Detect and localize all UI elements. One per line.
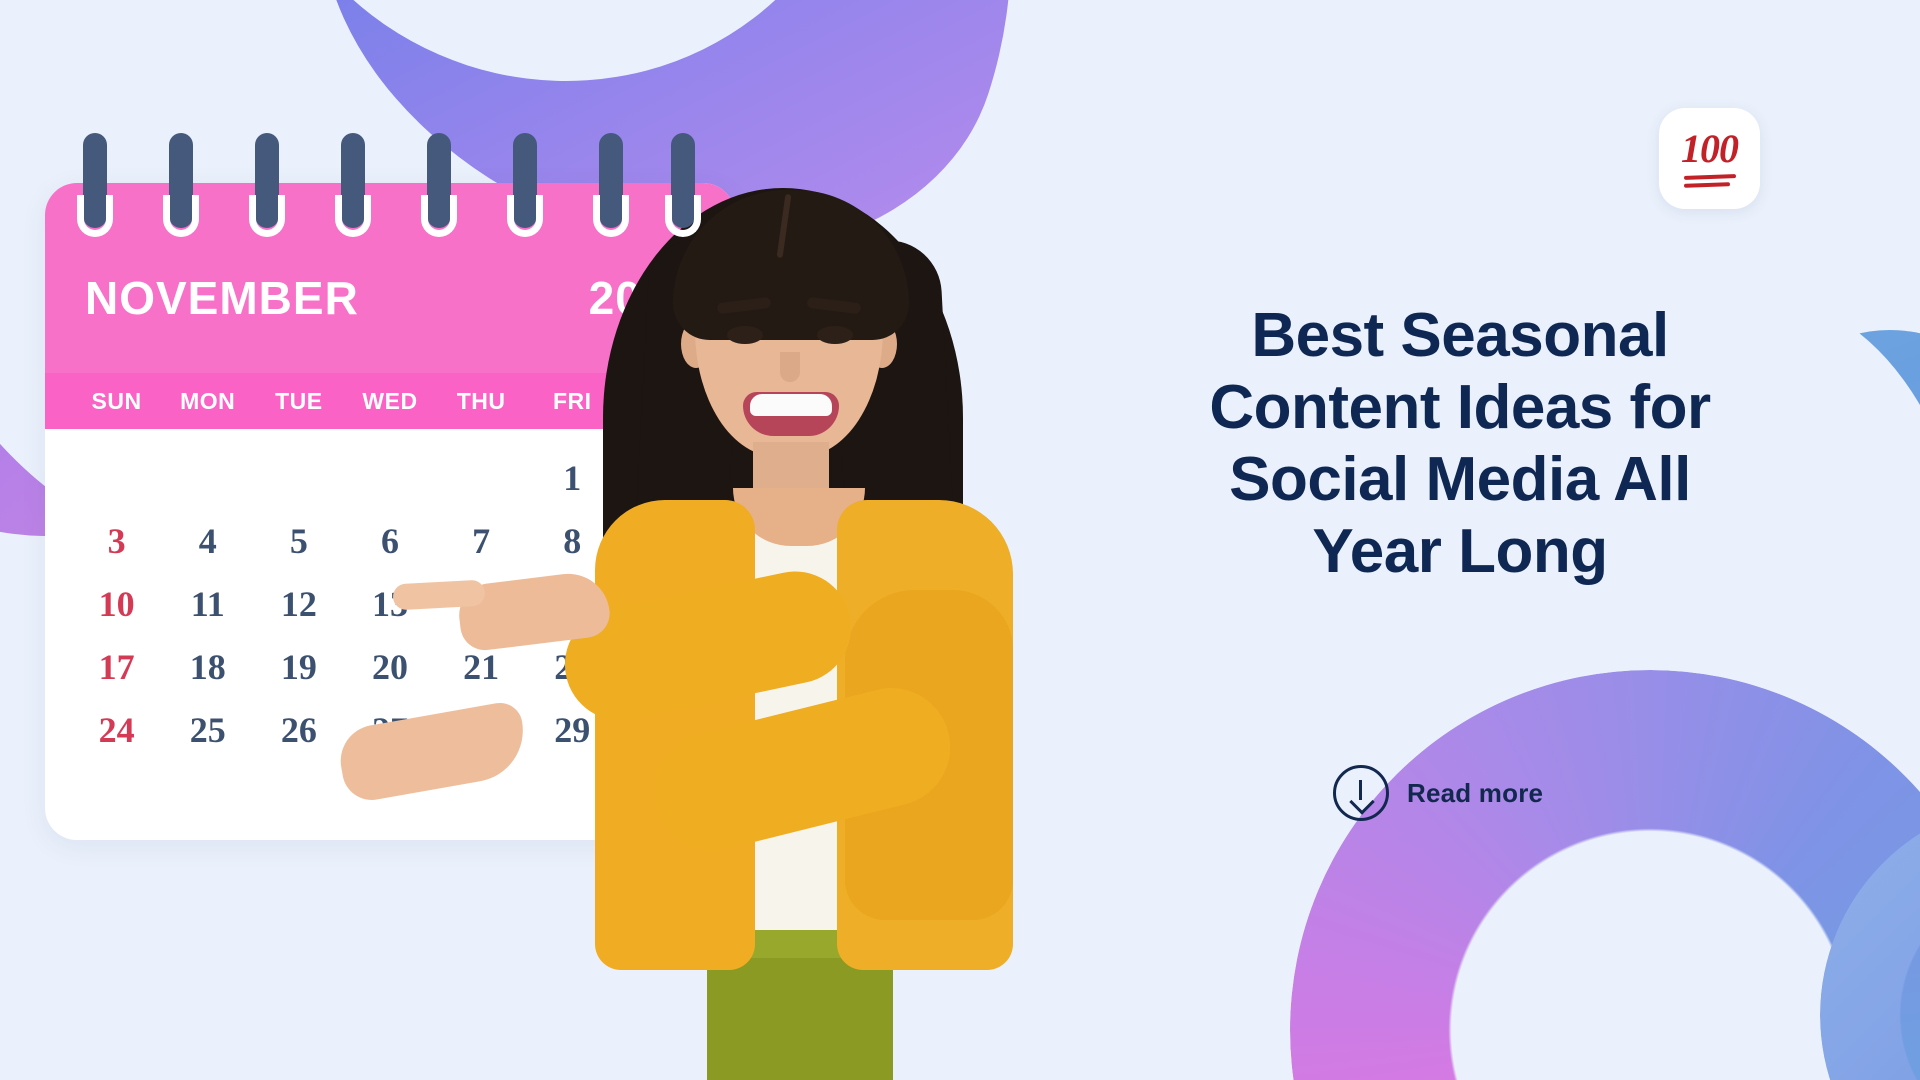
calendar-day[interactable]: 17 [71, 646, 162, 688]
calendar-day[interactable]: 7 [436, 520, 527, 562]
read-more-label: Read more [1407, 778, 1543, 809]
calendar-day[interactable]: 5 [253, 520, 344, 562]
headline-line-4: Year Long [1100, 516, 1820, 588]
binding-hole-icon [335, 195, 371, 237]
headline-line-1: Best Seasonal [1100, 300, 1820, 372]
headline-line-3: Social Media All [1100, 444, 1820, 516]
calendar-day[interactable]: 6 [344, 520, 435, 562]
calendar-spiral-binding [45, 133, 735, 253]
calendar-day[interactable] [436, 457, 527, 499]
binding-hole-icon [507, 195, 543, 237]
calendar-day[interactable]: 24 [71, 709, 162, 751]
blob-bottom-right-ring [1290, 670, 1920, 1080]
index-finger [392, 580, 485, 611]
calendar-day[interactable] [344, 457, 435, 499]
calendar-day[interactable] [162, 457, 253, 499]
page-title: Best Seasonal Content Ideas for Social M… [1100, 300, 1820, 588]
calendar-day[interactable]: 20 [344, 646, 435, 688]
calendar-day[interactable]: 18 [162, 646, 253, 688]
binding-hole-icon [249, 195, 285, 237]
teeth [750, 394, 832, 416]
eye-left [727, 326, 763, 344]
calendar-day[interactable] [71, 457, 162, 499]
read-more-button[interactable]: Read more [1333, 765, 1543, 821]
calendar-day[interactable]: 25 [162, 709, 253, 751]
hundred-points-badge: 100 [1659, 108, 1760, 209]
weekday-sun: SUN [71, 388, 162, 415]
binding-hole-icon [593, 195, 629, 237]
calendar-day[interactable]: 21 [436, 646, 527, 688]
blob-bottom-right-ring-secondary [1820, 800, 1920, 1080]
calendar-day[interactable] [253, 457, 344, 499]
calendar-day[interactable]: 12 [253, 583, 344, 625]
weekday-wed: WED [344, 388, 435, 415]
calendar-day[interactable]: 4 [162, 520, 253, 562]
binding-hole-icon [163, 195, 199, 237]
calendar-day[interactable]: 10 [71, 583, 162, 625]
calendar-day[interactable]: 11 [162, 583, 253, 625]
banner-canvas: 100 NOVEMBER 2024 SUN MON TUE WED THU FR… [0, 0, 1920, 1080]
weekday-thu: THU [436, 388, 527, 415]
weekday-mon: MON [162, 388, 253, 415]
hundred-points-emoji-icon: 100 [1681, 130, 1738, 168]
woman-pointing-photo [545, 170, 1025, 1080]
calendar-day[interactable]: 3 [71, 520, 162, 562]
binding-hole-icon [421, 195, 457, 237]
calendar-month-label: NOVEMBER [85, 271, 359, 325]
binding-hole-icon [77, 195, 113, 237]
weekday-tue: TUE [253, 388, 344, 415]
binding-hole-icon [665, 195, 701, 237]
nose [780, 352, 800, 382]
eye-right [817, 326, 853, 344]
calendar-day[interactable]: 19 [253, 646, 344, 688]
calendar-day[interactable]: 26 [253, 709, 344, 751]
hundred-points-underline-icon [1684, 171, 1736, 187]
arrow-down-circle-icon[interactable] [1333, 765, 1389, 821]
headline-line-2: Content Ideas for [1100, 372, 1820, 444]
